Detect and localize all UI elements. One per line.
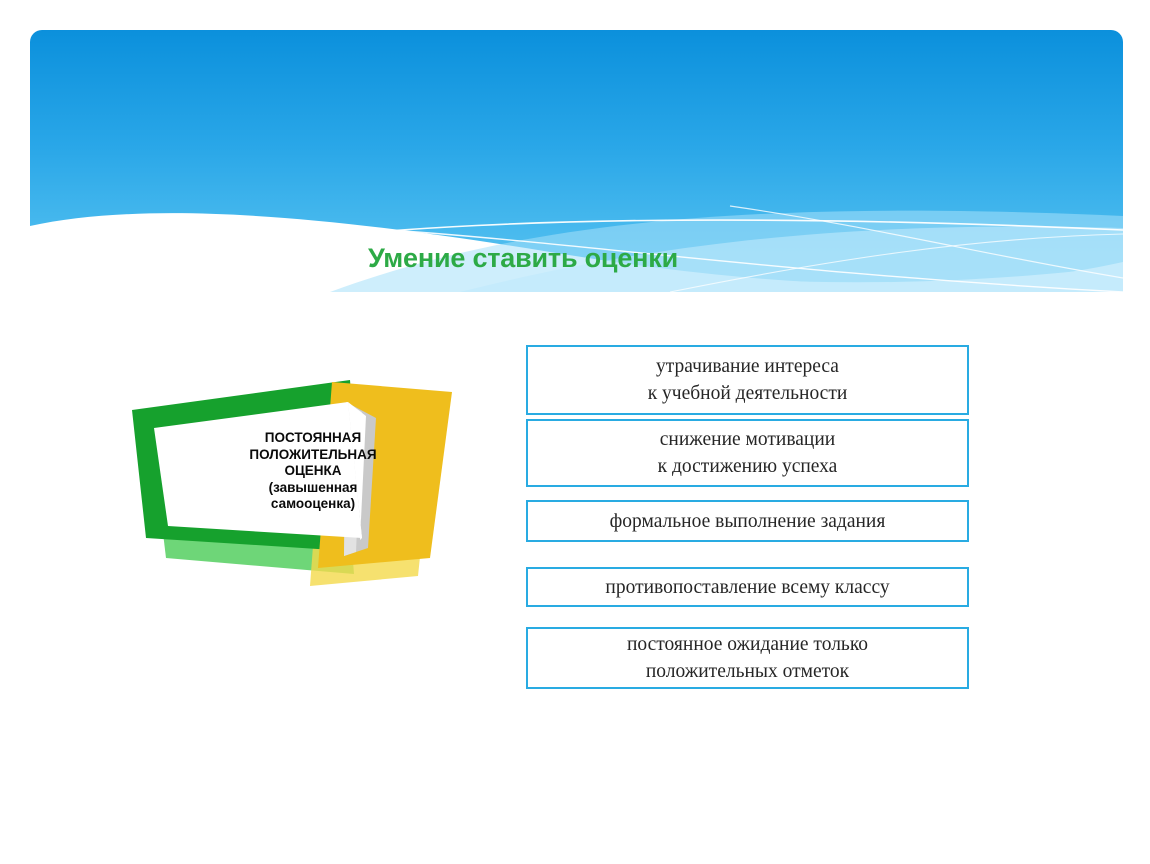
page-title: Умение ставить оценки [368,243,678,274]
consequence-line: противопоставление всему классу [605,574,889,601]
consequence-text: снижение мотивации к достижению успеха [650,426,846,480]
consequence-line: снижение мотивации [658,426,838,453]
presentation-slide: Умение ставить оценки ПОСТОЯННАЯ ПОЛОЖИТ… [0,0,1150,864]
consequence-expecting-only-positive-marks[interactable]: постоянное ожидание только положительных… [526,627,969,689]
consequence-text: постоянное ожидание только положительных… [619,631,876,685]
consequence-opposition-to-class[interactable]: противопоставление всему классу [526,567,969,607]
consequence-line: к достижению успеха [658,453,838,480]
consequence-line: формальное выполнение задания [610,508,886,535]
consequence-text: противопоставление всему классу [597,574,897,601]
consequences-list: утрачивание интереса к учебной деятельно… [526,345,969,689]
consequence-lower-motivation[interactable]: снижение мотивации к достижению успеха [526,419,969,487]
consequence-line: постоянное ожидание только [627,631,868,658]
consequence-formal-task-completion[interactable]: формальное выполнение задания [526,500,969,542]
consequence-loss-of-interest[interactable]: утрачивание интереса к учебной деятельно… [526,345,969,415]
consequence-line: положительных отметок [627,658,868,685]
layered-banner-shape: ПОСТОЯННАЯ ПОЛОЖИТЕЛЬНАЯ ОЦЕНКА (завышен… [118,362,468,602]
consequence-text: утрачивание интереса к учебной деятельно… [640,353,856,407]
consequence-line: утрачивание интереса [648,353,848,380]
consequence-text: формальное выполнение задания [602,508,894,535]
consequence-line: к учебной деятельности [648,380,848,407]
